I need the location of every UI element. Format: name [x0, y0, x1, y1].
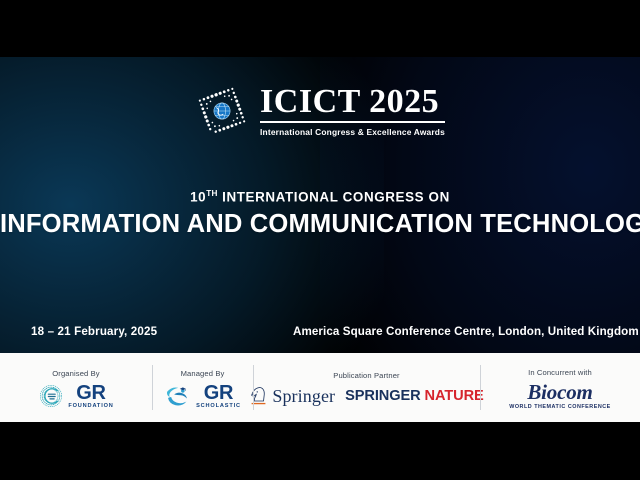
springer-knight-icon — [249, 385, 268, 407]
sponsor-label-managed-by: Managed By — [181, 369, 225, 378]
gr-scholastic-subtitle: SCHOLASTIC — [196, 404, 241, 410]
eyebrow-rest: INTERNATIONAL CONGRESS ON — [218, 189, 450, 204]
congress-eyebrow-line: 10TH INTERNATIONAL CONGRESS ON — [0, 189, 640, 204]
sponsor-label-organised-by: Organised By — [52, 369, 99, 378]
gr-foundation-subtitle: FOUNDATION — [68, 404, 113, 410]
page-title: INFORMATION AND COMMUNICATION TECHNOLOGY — [0, 210, 640, 239]
eyebrow-number: 10 — [190, 189, 206, 204]
sponsor-cell-managed-by: Managed By GR SCHOLASTI — [152, 353, 253, 422]
eyebrow-ordinal-suffix: TH — [206, 189, 218, 198]
screenshot-stage: ICICT 2025 International Congress & Exce… — [0, 0, 640, 480]
gr-foundation-circle-emblem — [38, 383, 64, 409]
sponsor-cell-in-concurrent-with: In Concurrent with Biocom WORLD THEMATIC… — [480, 353, 640, 422]
biocom-subtitle: WORLD THEMATIC CONFERENCE — [509, 405, 611, 410]
gr-scholastic-swoosh-graduate-emblem — [164, 383, 192, 409]
gr-foundation-initials: GR — [76, 383, 105, 403]
icict-diamond-globe-logo — [195, 84, 249, 138]
biocom-wordmark: Biocom — [527, 382, 592, 403]
letterbox-top-bar — [0, 0, 640, 57]
icict-tagline: International Congress & Excellence Awar… — [260, 123, 445, 138]
springer-nature-logo[interactable]: SPRINGER NATURE — [345, 388, 484, 404]
event-dates: 18 – 21 February, 2025 — [31, 325, 157, 338]
gr-scholastic-initials: GR — [204, 383, 233, 403]
event-meta-row: 18 – 21 February, 2025 America Square Co… — [0, 325, 640, 345]
springer-wordmark: Springer — [272, 386, 335, 407]
gr-scholastic-logo[interactable]: GR SCHOLASTIC — [164, 383, 241, 410]
letterbox-bottom-bar — [0, 422, 640, 480]
sponsor-bar: Organised By — [0, 353, 640, 422]
event-venue: America Square Conference Centre, London… — [293, 325, 639, 338]
icict-wordmark: ICICT 2025 — [260, 84, 445, 123]
biocom-logo[interactable]: Biocom WORLD THEMATIC CONFERENCE — [509, 382, 611, 410]
icict-logo-lockup: ICICT 2025 International Congress & Exce… — [0, 84, 640, 138]
headline-block: 10TH INTERNATIONAL CONGRESS ON INFORMATI… — [0, 189, 640, 239]
conference-banner: ICICT 2025 International Congress & Exce… — [0, 57, 640, 422]
sponsor-label-in-concurrent-with: In Concurrent with — [528, 368, 592, 377]
sponsor-cell-organised-by: Organised By — [0, 353, 152, 422]
springer-nature-nature-word: NATURE — [425, 388, 484, 404]
sponsor-label-publication-partner: Publication Partner — [333, 371, 399, 380]
gr-foundation-logo[interactable]: GR FOUNDATION — [38, 383, 113, 410]
springer-logo[interactable]: Springer — [249, 385, 335, 407]
hero-gradient-panel: ICICT 2025 International Congress & Exce… — [0, 57, 640, 353]
sponsor-cell-publication-partner: Publication Partner Springer SPRINGER NA… — [253, 353, 480, 422]
springer-nature-springer-word: SPRINGER — [345, 388, 420, 404]
